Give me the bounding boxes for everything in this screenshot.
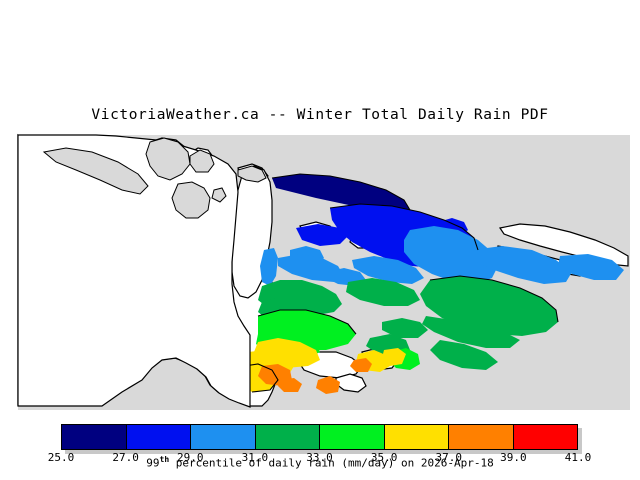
colorbar-segment-blue bbox=[127, 425, 192, 449]
colorbar bbox=[61, 424, 578, 450]
precipitation-map bbox=[0, 130, 640, 415]
colorbar-segment-bright-green bbox=[320, 425, 385, 449]
colorbar-panel: 25.027.029.031.033.035.037.039.041.0 bbox=[0, 418, 640, 480]
colorbar-segment-green bbox=[256, 425, 321, 449]
page-title: VictoriaWeather.ca -- Winter Total Daily… bbox=[0, 107, 640, 123]
colorbar-caption: 99th percentile of daily rain (mm/day) o… bbox=[0, 455, 640, 470]
caption-prefix: 99 bbox=[146, 457, 159, 470]
caption-rest: percentile of daily rain (mm/day) on 202… bbox=[169, 457, 494, 470]
colorbar-segment-yellow bbox=[385, 425, 450, 449]
colorbar-segment-red bbox=[514, 425, 578, 449]
colorbar-segment-navy bbox=[62, 425, 127, 449]
colorbar-segment-dodger-blue bbox=[191, 425, 256, 449]
caption-superscript: th bbox=[160, 455, 170, 464]
map-panel bbox=[0, 130, 640, 415]
colorbar-segment-orange bbox=[449, 425, 514, 449]
